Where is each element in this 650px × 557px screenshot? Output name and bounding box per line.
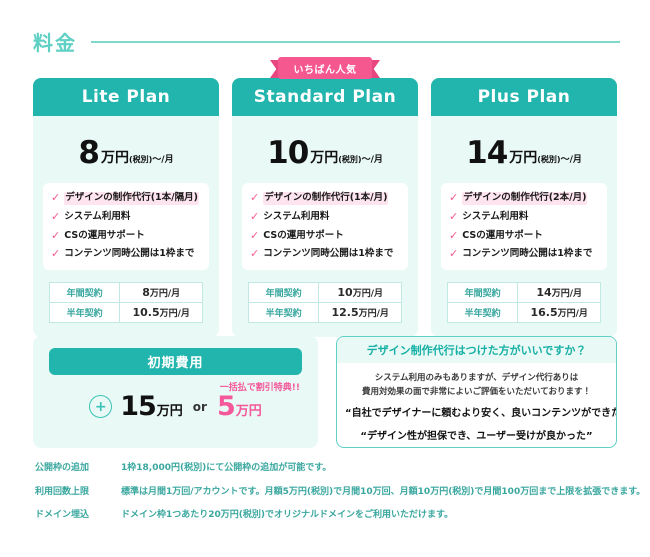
plan-card-standard[interactable]: いちばん人気 Standard Plan 10万円(税別)〜/月 ✓ デザインの… — [232, 78, 418, 337]
plan-header: Lite Plan — [33, 78, 219, 116]
table-row: 年間契約 14万円/月 — [448, 283, 601, 303]
feature-item: ✓ コンテンツ同時公開は1枠まで — [250, 248, 400, 261]
discount-amount-number: 5 — [217, 391, 235, 422]
plan-price: 14万円(税別)〜/月 — [441, 126, 607, 183]
check-icon: ✓ — [51, 211, 60, 223]
footnote-label: ドメイン埋込 — [35, 509, 109, 522]
plan-name: Lite Plan — [82, 87, 171, 107]
feature-item: ✓ CSの運用サポート — [250, 230, 400, 243]
check-icon: ✓ — [449, 230, 458, 242]
contract-term-label: 年間契約 — [50, 283, 120, 303]
or-separator: or — [193, 400, 207, 414]
faq-quote-2: “デザイン性が担保でき、ユーザー受けが良かった” — [345, 429, 608, 445]
footnote-text: 1枠18,000円(税別)にて公開枠の追加が可能です。 — [121, 462, 331, 475]
plus-circle-icon: + — [89, 395, 112, 418]
table-row: 年間契約 8万円/月 — [50, 283, 203, 303]
footnote-list: 公開枠の追加 1枠18,000円(税別)にて公開枠の追加が可能です。 利用回数上… — [35, 462, 630, 533]
check-icon: ✓ — [51, 230, 60, 242]
contract-table: 年間契約 10万円/月 半年契約 12.5万円/月 — [248, 282, 402, 323]
feature-label: システム利用料 — [263, 211, 329, 224]
feature-item: ✓ デザインの制作代行(1本/月) — [250, 192, 400, 205]
popular-badge: いちばん人気 — [270, 57, 380, 81]
initial-amount-unit: 万円 — [157, 404, 183, 419]
check-icon: ✓ — [250, 230, 259, 242]
footnote-item: ドメイン埋込 ドメイン枠1つあたり20万円(税別)でオリジナルドメインをご利用い… — [35, 509, 630, 522]
page-title: 料金 — [33, 27, 77, 56]
footnote-text: 標準は月間1万回/アカウントです。月額5万円(税別)で月間10万回、月額10万円… — [121, 486, 645, 499]
feature-label: CSの運用サポート — [263, 230, 344, 243]
feature-list: ✓ デザインの制作代行(2本/月) ✓ システム利用料 ✓ CSの運用サポート … — [441, 183, 607, 270]
price-tax-note: (税別) — [537, 155, 560, 164]
feature-label: コンテンツ同時公開は1枠まで — [64, 248, 194, 261]
feature-label: デザインの制作代行(1本/月) — [263, 192, 388, 205]
price-suffix: 〜/月 — [561, 155, 582, 165]
discount-amount-unit: 万円 — [236, 404, 262, 419]
check-icon: ✓ — [449, 192, 458, 204]
contract-price-value: 10万円/月 — [319, 283, 402, 303]
plan-card-list: Lite Plan 8万円(税別)〜/月 ✓ デザインの制作代行(1本/隔月) … — [33, 78, 617, 337]
popular-badge-label: いちばん人気 — [278, 57, 372, 79]
feature-label: CSの運用サポート — [64, 230, 145, 243]
contract-price-value: 10.5万円/月 — [120, 303, 203, 323]
feature-label: デザインの制作代行(1本/隔月) — [64, 192, 199, 205]
feature-item: ✓ CSの運用サポート — [449, 230, 599, 243]
price-suffix: 〜/月 — [152, 155, 173, 165]
price-suffix: 〜/月 — [362, 155, 383, 165]
contract-price-value: 14万円/月 — [518, 283, 601, 303]
contract-term-label: 半年契約 — [448, 303, 518, 323]
feature-list: ✓ デザインの制作代行(1本/隔月) ✓ システム利用料 ✓ CSの運用サポート… — [43, 183, 209, 270]
contract-term-label: 年間契約 — [249, 283, 319, 303]
feature-item: ✓ システム利用料 — [51, 211, 201, 224]
contract-term-label: 半年契約 — [249, 303, 319, 323]
check-icon: ✓ — [250, 192, 259, 204]
plan-card-plus[interactable]: Plus Plan 14万円(税別)〜/月 ✓ デザインの制作代行(2本/月) … — [431, 78, 617, 337]
feature-item: ✓ システム利用料 — [449, 211, 599, 224]
faq-heading: デザイン制作代行はつけた方がいいですか？ — [337, 337, 616, 363]
feature-item: ✓ コンテンツ同時公開は1枠まで — [449, 248, 599, 261]
check-icon: ✓ — [51, 192, 60, 204]
feature-label: デザインの制作代行(2本/月) — [462, 192, 587, 205]
check-icon: ✓ — [449, 248, 458, 260]
price-unit: 万円 — [101, 150, 129, 166]
heading-divider — [91, 41, 620, 43]
initial-cost-panel: 初期費用 一括払で割引特典!! + 15万円 or 5万円 — [33, 336, 318, 448]
initial-cost-button[interactable]: 初期費用 — [49, 348, 302, 375]
feature-label: CSの運用サポート — [462, 230, 543, 243]
price-unit: 万円 — [509, 150, 537, 166]
contract-table: 年間契約 14万円/月 半年契約 16.5万円/月 — [447, 282, 601, 323]
table-row: 半年契約 16.5万円/月 — [448, 303, 601, 323]
initial-cost-label: 初期費用 — [147, 352, 203, 371]
footnote-item: 利用回数上限 標準は月間1万回/アカウントです。月額5万円(税別)で月間10万回… — [35, 486, 630, 499]
check-icon: ✓ — [250, 248, 259, 260]
feature-label: システム利用料 — [462, 211, 528, 224]
faq-body: システム利用のみもありますが、デザイン代行ありは 費用対効果の面で非常によいご評… — [337, 363, 616, 445]
plan-header: Standard Plan — [232, 78, 418, 116]
check-icon: ✓ — [51, 248, 60, 260]
footnote-text: ドメイン枠1つあたり20万円(税別)でオリジナルドメインをご利用いただけます。 — [121, 509, 453, 522]
check-icon: ✓ — [250, 211, 259, 223]
plan-card-lite[interactable]: Lite Plan 8万円(税別)〜/月 ✓ デザインの制作代行(1本/隔月) … — [33, 78, 219, 337]
price-tax-note: (税別) — [129, 155, 152, 164]
table-row: 年間契約 10万円/月 — [249, 283, 402, 303]
plan-price: 8万円(税別)〜/月 — [43, 126, 209, 183]
price-number: 8 — [78, 135, 99, 171]
section-header: 料金 — [33, 27, 620, 56]
feature-item: ✓ デザインの制作代行(1本/隔月) — [51, 192, 201, 205]
table-row: 半年契約 10.5万円/月 — [50, 303, 203, 323]
feature-label: システム利用料 — [64, 211, 130, 224]
initial-cost-amount-row: + 15万円 or 5万円 — [49, 391, 302, 422]
initial-amount-number: 15 — [120, 391, 156, 422]
table-row: 半年契約 12.5万円/月 — [249, 303, 402, 323]
feature-item: ✓ デザインの制作代行(2本/月) — [449, 192, 599, 205]
price-unit: 万円 — [310, 150, 338, 166]
faq-lead-line-1: システム利用のみもありますが、デザイン代行ありは — [345, 372, 608, 386]
contract-price-value: 16.5万円/月 — [518, 303, 601, 323]
plan-body: 14万円(税別)〜/月 ✓ デザインの制作代行(2本/月) ✓ システム利用料 … — [431, 116, 617, 337]
feature-label: コンテンツ同時公開は1枠まで — [263, 248, 393, 261]
plan-header: Plus Plan — [431, 78, 617, 116]
plan-name: Standard Plan — [254, 87, 396, 107]
price-number: 10 — [267, 135, 308, 171]
contract-table: 年間契約 8万円/月 半年契約 10.5万円/月 — [49, 282, 203, 323]
footnote-label: 利用回数上限 — [35, 486, 109, 499]
contract-price-value: 12.5万円/月 — [319, 303, 402, 323]
plan-name: Plus Plan — [478, 87, 571, 107]
contract-term-label: 年間契約 — [448, 283, 518, 303]
feature-list: ✓ デザインの制作代行(1本/月) ✓ システム利用料 ✓ CSの運用サポート … — [242, 183, 408, 270]
contract-term-label: 半年契約 — [50, 303, 120, 323]
plan-price: 10万円(税別)〜/月 — [242, 126, 408, 183]
faq-lead-line-2: 費用対効果の面で非常によいご評価をいただいております！ — [345, 386, 608, 400]
plan-body: 8万円(税別)〜/月 ✓ デザインの制作代行(1本/隔月) ✓ システム利用料 … — [33, 116, 219, 337]
feature-label: コンテンツ同時公開は1枠まで — [462, 248, 592, 261]
faq-quote-1: “自社でデザイナーに頼むより安く、良いコンテンツができた” — [345, 406, 608, 422]
footnote-label: 公開枠の追加 — [35, 462, 109, 475]
feature-item: ✓ CSの運用サポート — [51, 230, 201, 243]
price-number: 14 — [466, 135, 507, 171]
price-tax-note: (税別) — [338, 155, 361, 164]
footnote-item: 公開枠の追加 1枠18,000円(税別)にて公開枠の追加が可能です。 — [35, 462, 630, 475]
faq-panel: デザイン制作代行はつけた方がいいですか？ システム利用のみもありますが、デザイン… — [336, 336, 617, 448]
plan-body: 10万円(税別)〜/月 ✓ デザインの制作代行(1本/月) ✓ システム利用料 … — [232, 116, 418, 337]
check-icon: ✓ — [449, 211, 458, 223]
feature-item: ✓ システム利用料 — [250, 211, 400, 224]
feature-item: ✓ コンテンツ同時公開は1枠まで — [51, 248, 201, 261]
contract-price-value: 8万円/月 — [120, 283, 203, 303]
